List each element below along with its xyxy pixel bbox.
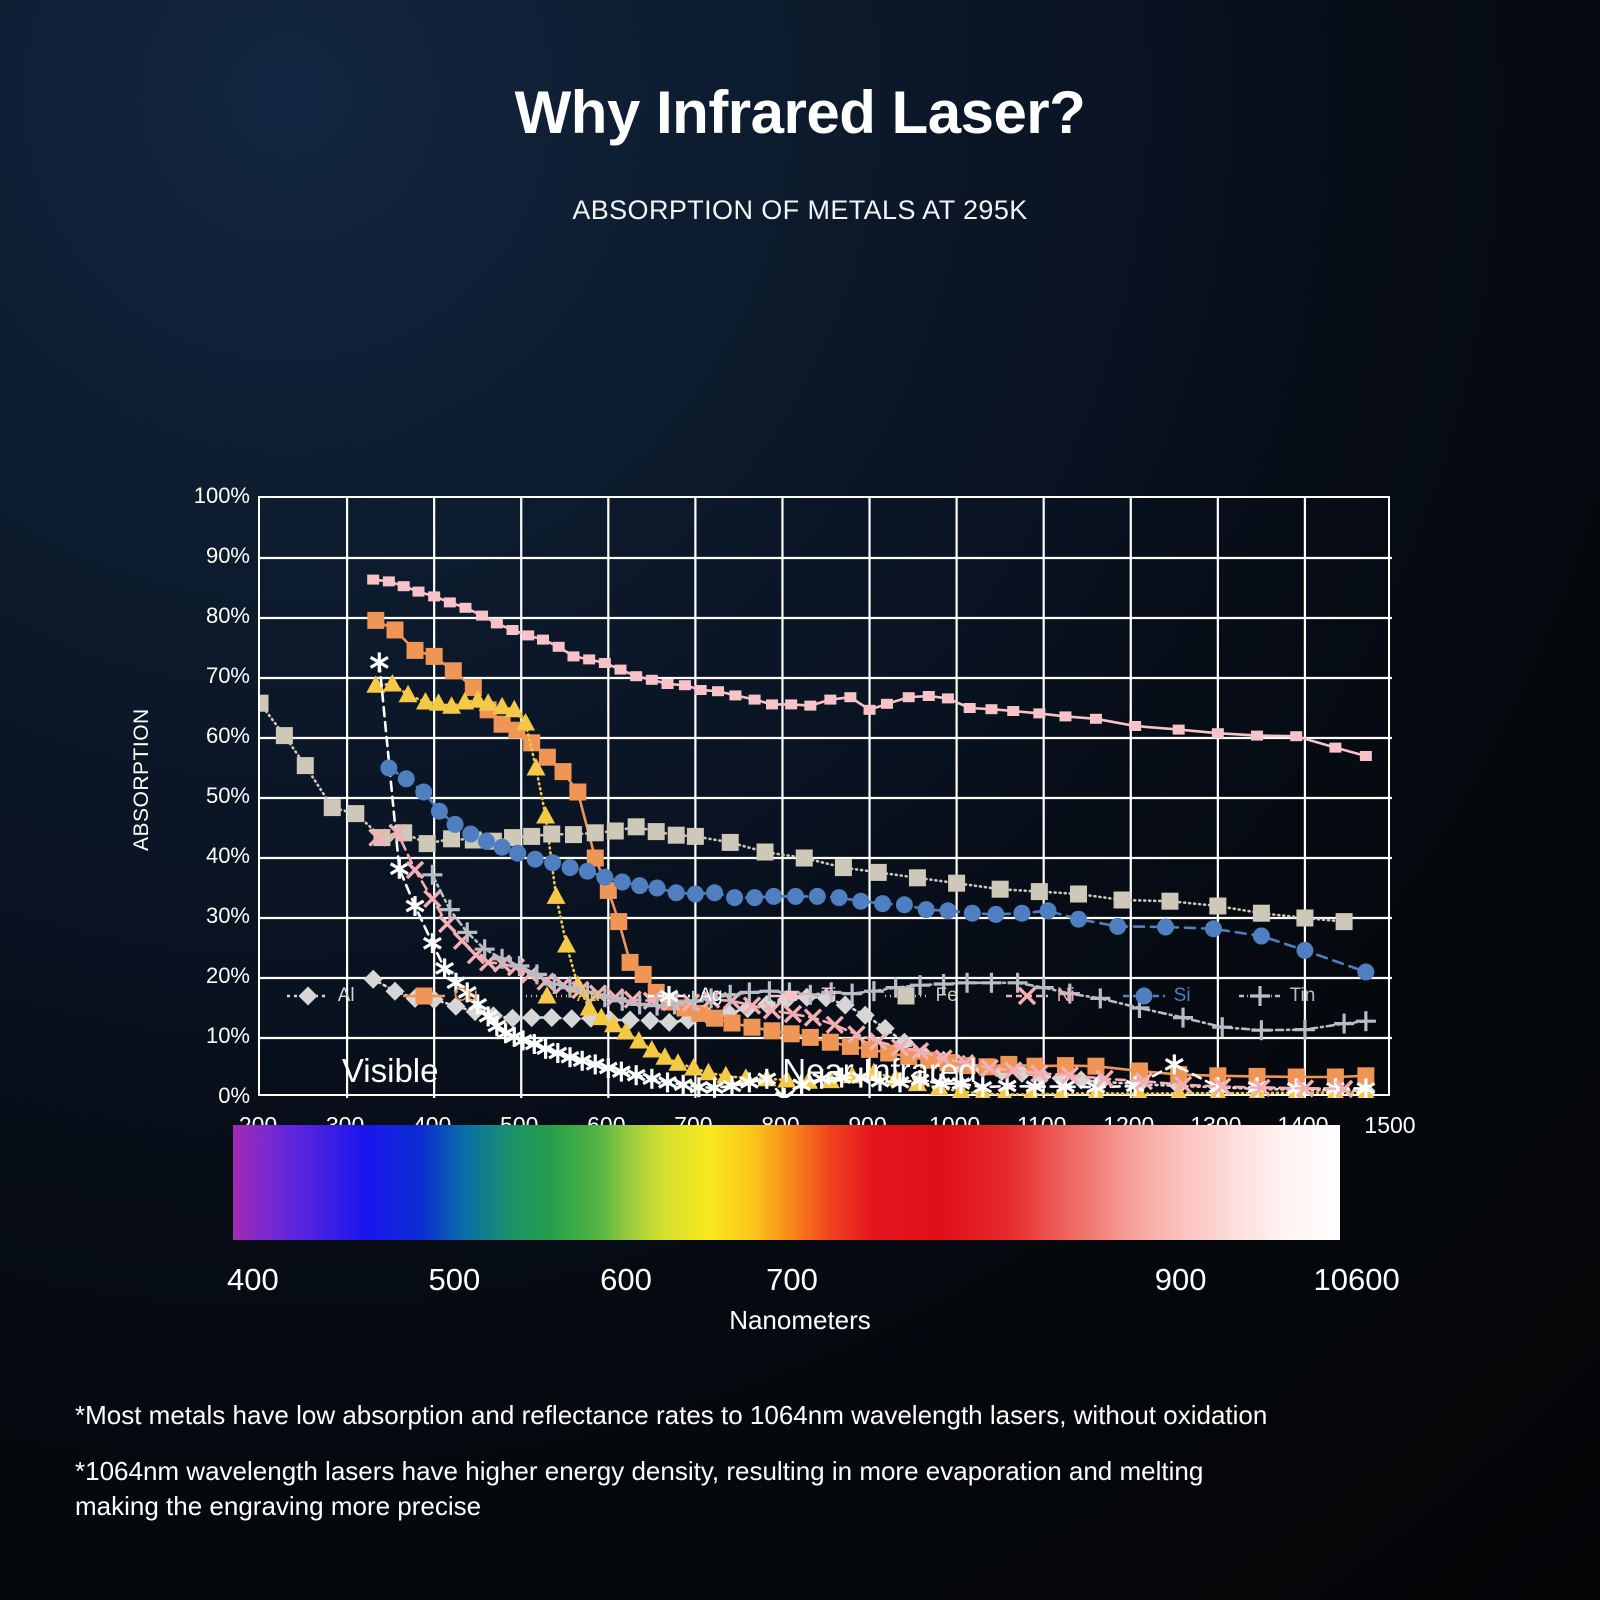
data-point (428, 591, 440, 601)
legend-item-tin[interactable]: Tin (1237, 985, 1316, 1007)
y-tick-label: 80% (180, 603, 250, 629)
data-point (565, 826, 582, 843)
data-point (785, 991, 797, 1001)
data-point (419, 835, 436, 852)
al-marker-icon (285, 985, 331, 1007)
data-point (1357, 964, 1374, 981)
data-point (561, 859, 578, 876)
data-point (630, 671, 642, 681)
data-point (276, 727, 293, 744)
data-point (424, 933, 441, 953)
spectrum-tick-500: 500 (429, 1262, 481, 1298)
data-point (610, 913, 627, 930)
y-tick-label: 30% (180, 903, 250, 929)
data-point (1157, 919, 1174, 936)
absorption-chart: ABSORPTION 0%10%20%30%40%50%60%70%80%90%… (0, 240, 1600, 960)
data-point (260, 695, 269, 712)
data-point (749, 695, 761, 705)
data-point (668, 827, 685, 844)
chart-subtitle: ABSORPTION OF METALS AT 295K (0, 195, 1600, 226)
data-point (476, 611, 488, 621)
data-point (462, 826, 479, 843)
data-point (1031, 883, 1048, 900)
data-point (386, 622, 403, 639)
y-tick-label: 90% (180, 543, 250, 569)
legend-label: Si (1174, 985, 1191, 1007)
plot-svg (260, 498, 1392, 1098)
band-label-near-infrared: Near Infrared (782, 1052, 976, 1090)
band-label-visible: Visible (342, 1052, 439, 1090)
data-point (398, 581, 410, 591)
data-point (367, 612, 384, 629)
data-point (668, 884, 685, 901)
chart-legend: AlCuAuAgTiFeNiSiTin (0, 985, 1600, 1007)
legend-item-al[interactable]: Al (285, 985, 355, 1007)
spectrum-axis-label: Nanometers (0, 1305, 1600, 1336)
data-point (406, 642, 423, 659)
data-point (523, 828, 540, 845)
data-point (596, 869, 613, 886)
data-point (1013, 905, 1030, 922)
legend-item-ti[interactable]: Ti (768, 985, 836, 1007)
si-marker-icon (1121, 985, 1167, 1007)
data-point (870, 864, 887, 881)
data-point (298, 987, 317, 1006)
data-point (431, 803, 448, 820)
footnote-1: *Most metals have low absorption and ref… (75, 1398, 1555, 1432)
y-axis-title: ABSORPTION (122, 670, 162, 890)
data-point (1129, 721, 1141, 731)
data-point (1135, 988, 1152, 1005)
data-point (297, 757, 314, 774)
data-point (536, 806, 555, 824)
data-point (1070, 911, 1087, 928)
data-point (764, 1022, 781, 1039)
data-point (1205, 920, 1222, 937)
infographic-page: Why Infrared Laser? ABSORPTION OF METALS… (0, 0, 1600, 1600)
ni-marker-icon (1004, 985, 1050, 1007)
data-point (631, 877, 648, 894)
data-point (1329, 743, 1341, 753)
data-point (399, 685, 418, 703)
data-point (383, 576, 395, 586)
data-point (447, 816, 464, 833)
data-point (415, 784, 432, 801)
x-tick-label: 1500 (1364, 1112, 1415, 1139)
data-point (562, 1009, 581, 1028)
data-point (629, 1031, 648, 1049)
data-point (1173, 1008, 1193, 1028)
data-point (729, 690, 741, 700)
data-point (324, 799, 341, 816)
spectrum-tick-10600: 10600 (1313, 1262, 1399, 1298)
data-point (444, 597, 456, 607)
data-point (964, 703, 976, 713)
data-point (1033, 708, 1045, 718)
data-point (939, 902, 956, 919)
data-point (722, 834, 739, 851)
data-point (743, 1019, 760, 1036)
data-point (347, 805, 364, 822)
data-point (443, 830, 460, 847)
data-point (557, 935, 576, 953)
legend-item-cu[interactable]: Cu (401, 985, 478, 1007)
data-point (436, 958, 453, 978)
data-point (948, 875, 965, 892)
legend-item-ag[interactable]: Ag (646, 985, 722, 1007)
data-point (660, 1013, 679, 1032)
data-point (1250, 986, 1270, 1006)
y-tick-label: 60% (180, 723, 250, 749)
data-point (687, 886, 704, 903)
legend-label: Al (338, 985, 355, 1007)
data-point (569, 784, 586, 801)
ti-marker-icon (768, 985, 814, 1007)
data-point (537, 635, 549, 645)
data-point (1114, 892, 1131, 909)
data-point (695, 685, 707, 695)
data-point (1070, 886, 1087, 903)
legend-label: Fe (936, 985, 958, 1007)
spectrum-tick-labels: 40050060070090010600 (233, 1262, 1340, 1306)
data-point (614, 874, 631, 891)
legend-label: Au (577, 985, 600, 1007)
data-point (831, 889, 848, 906)
data-point (412, 587, 424, 597)
legend-item-si[interactable]: Si (1121, 985, 1191, 1007)
data-point (426, 648, 443, 665)
spectrum-gradient-bar (233, 1125, 1340, 1240)
tin-marker-icon (1237, 985, 1283, 1007)
data-point (827, 1017, 843, 1033)
data-point (544, 854, 561, 871)
data-point (1296, 910, 1313, 927)
fe-marker-icon (883, 985, 929, 1007)
data-point (649, 880, 666, 897)
data-point (757, 844, 774, 861)
data-point (543, 826, 560, 843)
data-point (1090, 714, 1102, 724)
data-point (367, 575, 379, 585)
data-point (903, 692, 915, 702)
legend-label: Ag (699, 985, 722, 1007)
data-point (460, 603, 472, 613)
data-point (942, 693, 954, 703)
data-point (1253, 905, 1270, 922)
data-point (407, 862, 423, 878)
data-point (567, 651, 579, 661)
data-point (553, 642, 565, 652)
data-point (1212, 728, 1224, 738)
data-point (896, 896, 913, 913)
data-point (537, 986, 556, 1004)
data-point (809, 888, 826, 905)
data-point (539, 749, 556, 766)
data-point (746, 889, 763, 906)
data-point (918, 901, 935, 918)
data-point (579, 863, 596, 880)
data-point (522, 630, 534, 640)
ag-marker-icon (646, 985, 692, 1007)
data-point (614, 665, 626, 675)
data-point (822, 1034, 839, 1051)
data-point (804, 701, 816, 711)
data-point (881, 699, 893, 709)
data-point (964, 905, 981, 922)
data-point (662, 679, 674, 689)
data-point (897, 988, 914, 1005)
data-point (547, 886, 566, 904)
data-point (1336, 913, 1353, 930)
data-point (527, 851, 544, 868)
data-point (864, 705, 876, 715)
data-point (706, 1010, 723, 1027)
data-point (985, 704, 997, 714)
data-point (1290, 731, 1302, 741)
spectrum-tick-600: 600 (600, 1262, 652, 1298)
data-point (494, 839, 511, 856)
data-point (1360, 751, 1372, 761)
legend-item-fe[interactable]: Fe (883, 985, 958, 1007)
data-point (1040, 902, 1057, 919)
legend-label: Tin (1290, 985, 1316, 1007)
data-point (648, 823, 665, 840)
data-point (1212, 1017, 1232, 1037)
data-point (1295, 1020, 1315, 1040)
legend-item-ni[interactable]: Ni (1004, 985, 1075, 1007)
data-point (415, 988, 432, 1005)
data-point (766, 699, 778, 709)
data-point (406, 896, 423, 916)
data-point (923, 691, 935, 701)
data-point (424, 891, 440, 907)
data-point (635, 966, 652, 983)
data-point (726, 889, 743, 906)
data-point (712, 686, 724, 696)
data-point (380, 760, 397, 777)
data-point (852, 893, 869, 910)
data-point (583, 654, 595, 664)
data-point (1296, 942, 1313, 959)
footnotes: *Most metals have low absorption and ref… (75, 1398, 1555, 1545)
data-point (856, 1006, 875, 1025)
data-point (723, 1015, 740, 1032)
spectrum-band-labels: VisibleNear Infrared (0, 1052, 1600, 1096)
data-point (1059, 711, 1071, 721)
data-point (987, 906, 1004, 923)
legend-item-au[interactable]: Au (524, 985, 600, 1007)
data-point (1209, 898, 1226, 915)
page-title: Why Infrared Laser? (0, 78, 1600, 147)
data-point (835, 859, 852, 876)
data-point (687, 828, 704, 845)
data-point (422, 865, 442, 885)
spectrum-tick-400: 400 (227, 1262, 279, 1298)
data-point (478, 833, 495, 850)
footnote-2: *1064nm wavelength lasers have higher en… (75, 1454, 1555, 1523)
data-point (587, 824, 604, 841)
data-point (494, 716, 511, 733)
y-tick-label: 10% (180, 1023, 250, 1049)
data-point (1356, 1011, 1376, 1031)
au-marker-icon (524, 985, 570, 1007)
data-point (440, 900, 460, 920)
y-tick-label: 40% (180, 843, 250, 869)
data-point (398, 770, 415, 787)
data-point (992, 881, 1009, 898)
data-point (391, 859, 408, 879)
data-point (509, 845, 526, 862)
data-point (1173, 725, 1185, 735)
data-point (555, 763, 572, 780)
data-point (805, 1010, 821, 1026)
data-point (1334, 1014, 1354, 1034)
data-point (1253, 928, 1270, 945)
data-point (607, 823, 624, 840)
data-point (824, 695, 836, 705)
data-point (1251, 731, 1263, 741)
data-point (507, 625, 519, 635)
data-point (371, 652, 388, 672)
data-point (844, 692, 856, 702)
data-point (787, 888, 804, 905)
cu-marker-icon (401, 985, 447, 1007)
data-point (706, 884, 723, 901)
data-point (874, 895, 891, 912)
data-point (646, 675, 658, 685)
data-point (1109, 918, 1126, 935)
legend-label: Ti (821, 985, 836, 1007)
data-point (785, 699, 797, 709)
data-point (909, 869, 926, 886)
data-point (491, 618, 503, 628)
data-point (599, 658, 611, 668)
data-point (445, 662, 462, 679)
data-point (383, 674, 402, 692)
data-point (679, 680, 691, 690)
y-tick-label: 50% (180, 783, 250, 809)
data-point (1161, 893, 1178, 910)
y-tick-label: 100% (180, 483, 250, 509)
legend-label: Ni (1057, 985, 1075, 1007)
data-point (796, 850, 813, 867)
data-point (765, 888, 782, 905)
data-point (628, 818, 645, 835)
y-tick-label: 70% (180, 663, 250, 689)
spectrum-tick-900: 900 (1155, 1262, 1207, 1298)
data-point (783, 1025, 800, 1042)
spectrum-tick-700: 700 (766, 1262, 818, 1298)
data-point (802, 1029, 819, 1046)
data-point (1007, 706, 1019, 716)
data-point (522, 1008, 541, 1027)
legend-label: Cu (454, 985, 478, 1007)
data-point (542, 1008, 561, 1027)
